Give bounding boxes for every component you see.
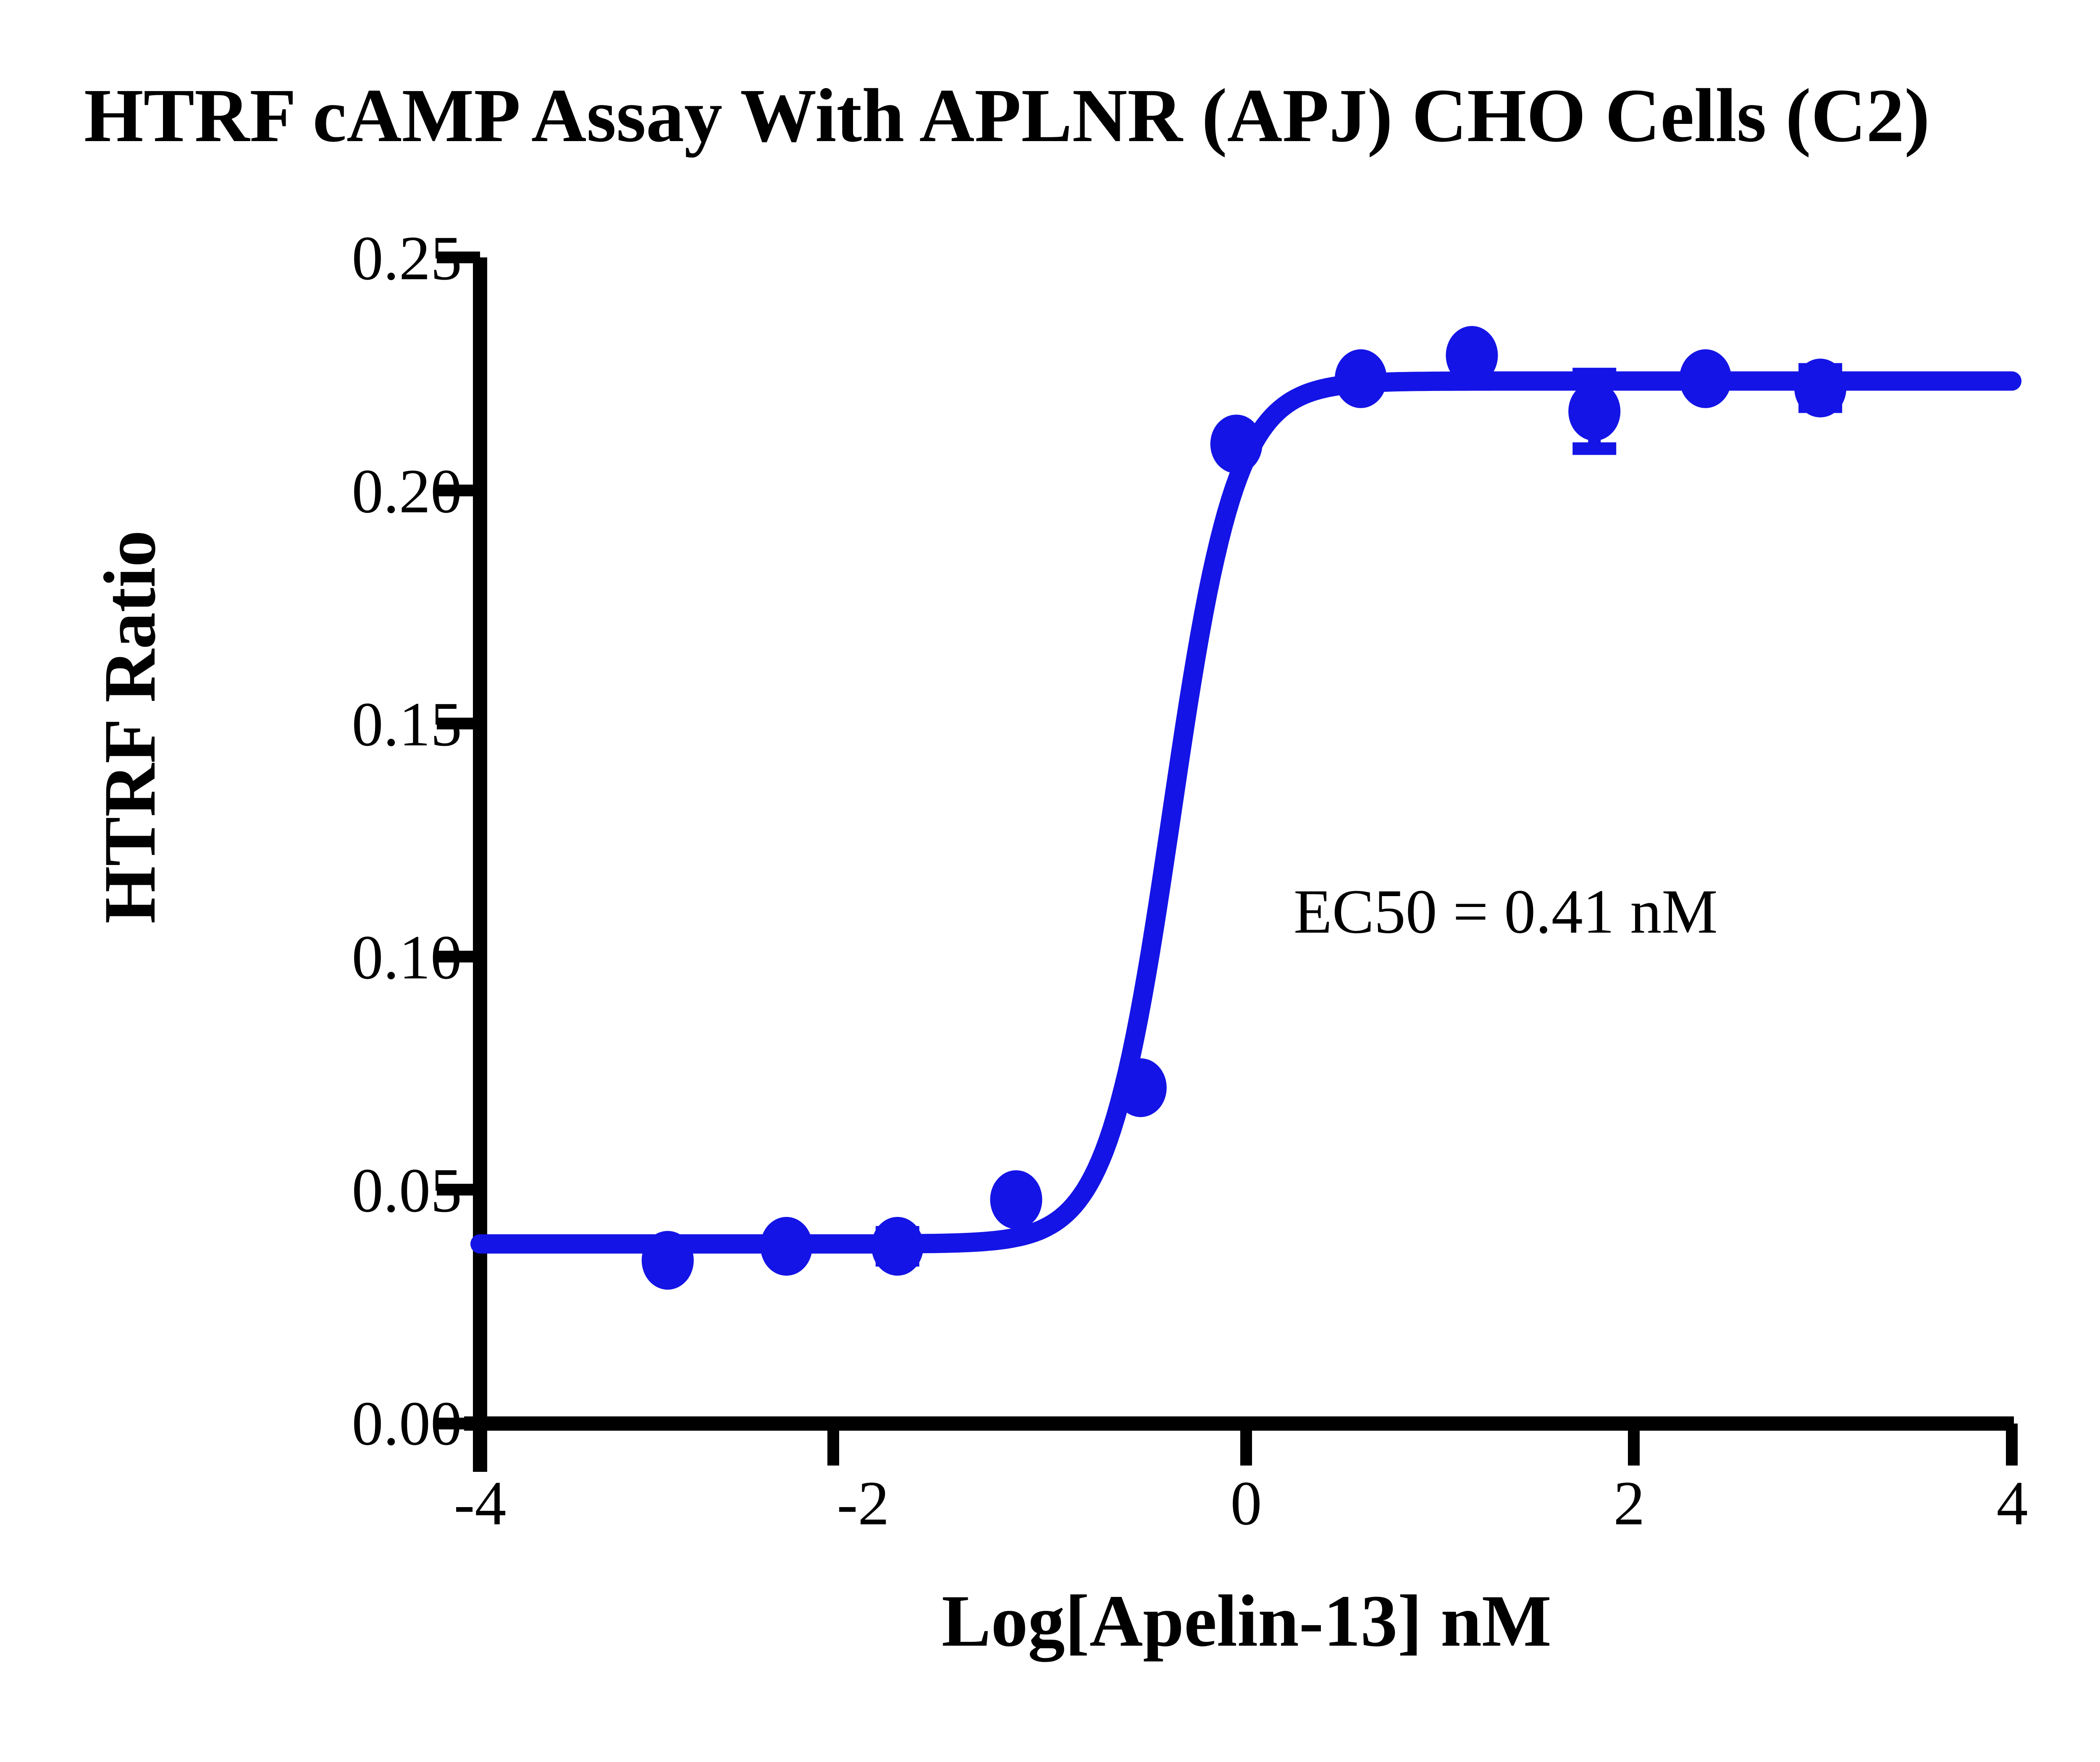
error-bar-group [876, 370, 1842, 1261]
plot-area [0, 0, 2100, 1762]
data-point-marker [1568, 382, 1620, 441]
data-point-group [642, 326, 1846, 1290]
figure-canvas: HTRF cAMP Assay With APLNR (APJ) CHO Cel… [0, 0, 2100, 1762]
data-point-marker [990, 1170, 1042, 1229]
data-point-marker [760, 1217, 812, 1276]
fit-curve [480, 381, 2012, 1244]
data-point-marker [1335, 349, 1387, 408]
data-point-marker [1680, 349, 1732, 408]
data-point-marker [1794, 359, 1846, 417]
data-point-marker [642, 1231, 694, 1290]
data-point-marker [871, 1217, 924, 1276]
data-point-marker [1446, 326, 1498, 385]
data-point-marker [1210, 414, 1263, 473]
data-point-marker [1115, 1058, 1167, 1117]
